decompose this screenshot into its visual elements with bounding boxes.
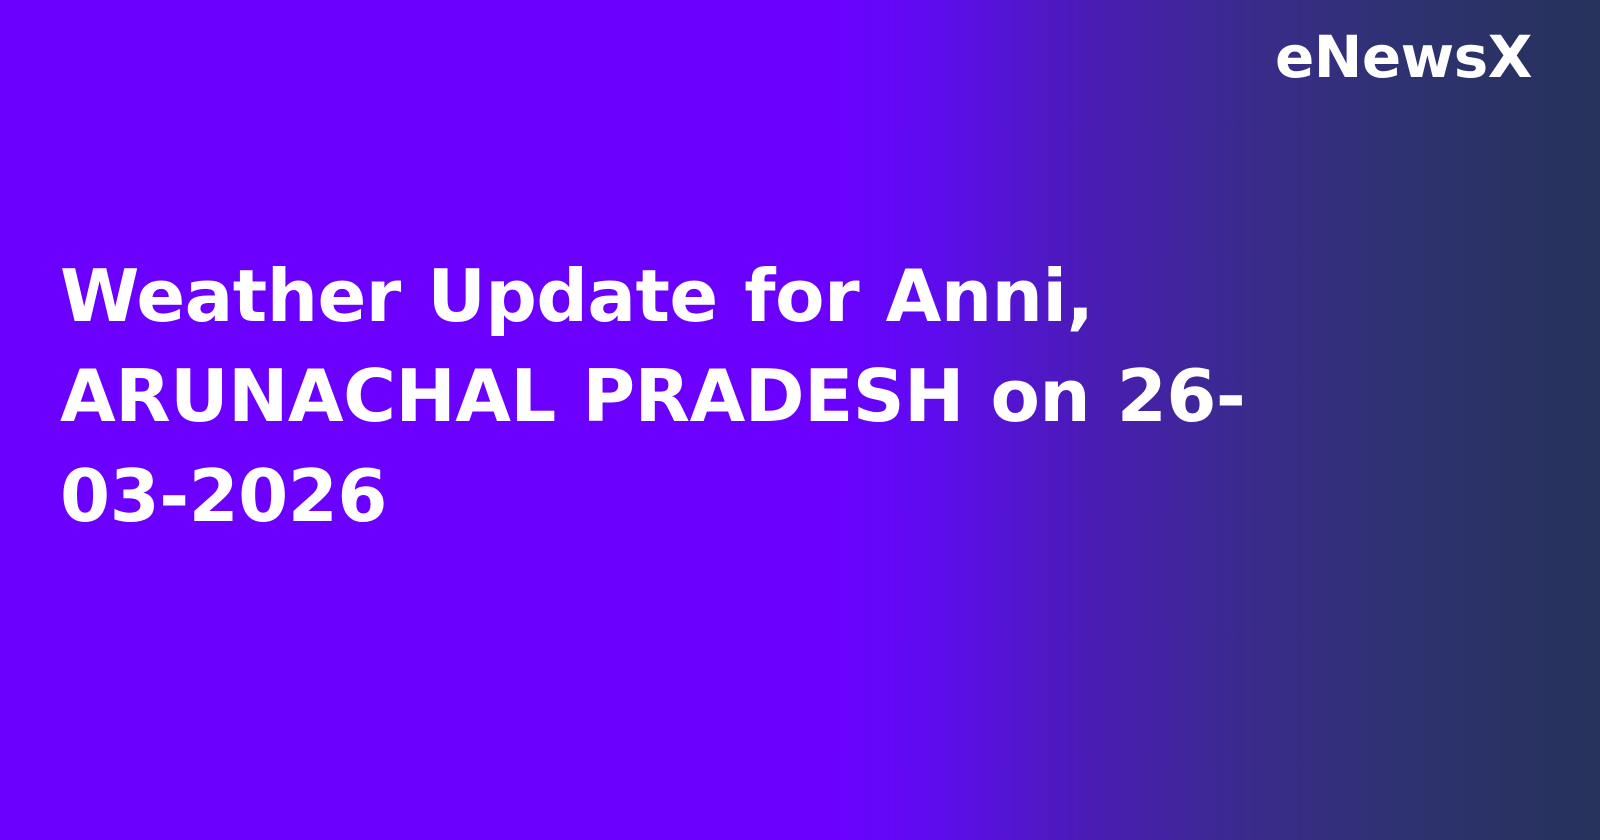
news-banner-card: eNewsX Weather Update for Anni, ARUNACHA… <box>0 0 1600 840</box>
headline-block: Weather Update for Anni, ARUNACHAL PRADE… <box>60 246 1320 546</box>
brand-wordmark-text: eNewsX <box>1275 28 1532 86</box>
brand-logo[interactable]: eNewsX <box>1275 28 1532 86</box>
page-title: Weather Update for Anni, ARUNACHAL PRADE… <box>60 246 1320 546</box>
